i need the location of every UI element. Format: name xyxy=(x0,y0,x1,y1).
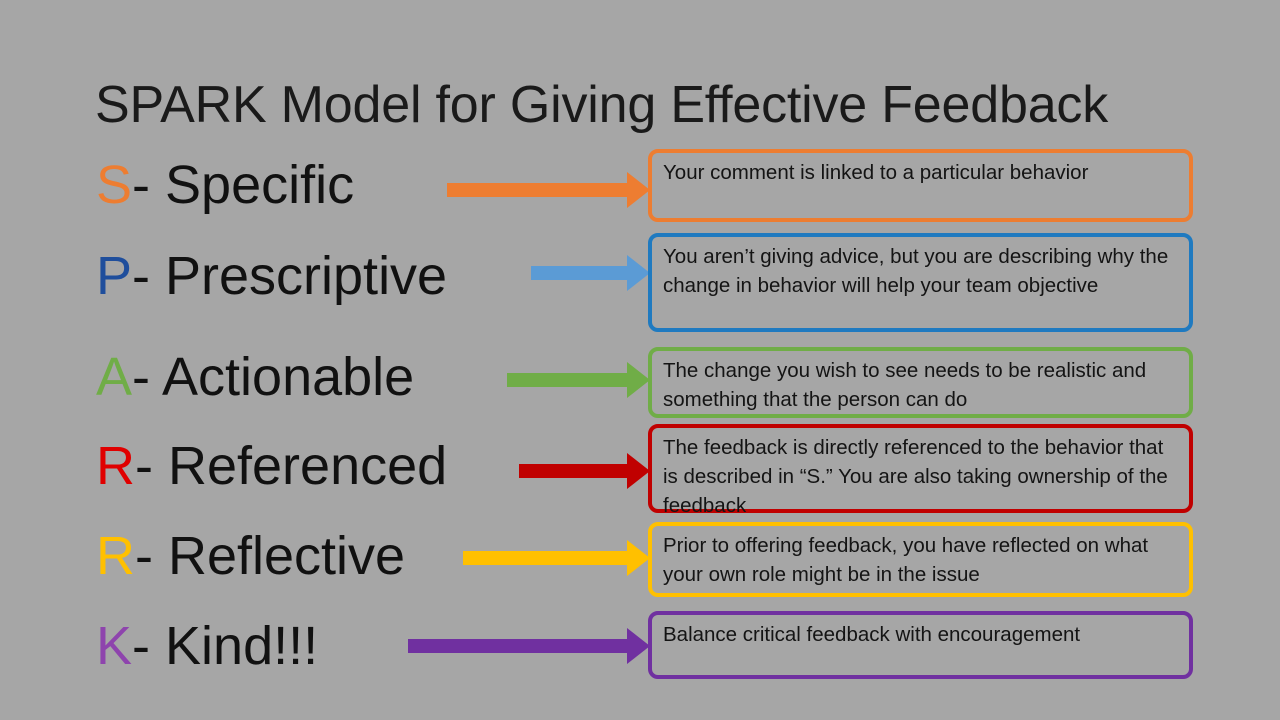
callout-a: The change you wish to see needs to be r… xyxy=(648,347,1193,418)
callout-text-p: You aren’t giving advice, but you are de… xyxy=(663,242,1181,300)
callout-k: Balance critical feedback with encourage… xyxy=(648,611,1193,679)
callout-r-reflective: Prior to offering feedback, you have ref… xyxy=(648,522,1193,597)
term-k: K- Kind!!! xyxy=(96,619,318,673)
term-text-k: - Kind!!! xyxy=(132,616,318,676)
term-letter-r-referenced: R xyxy=(96,436,135,496)
term-text-r-reflective: - Reflective xyxy=(135,526,405,586)
term-s: S- Specific xyxy=(96,158,354,212)
term-letter-p: P xyxy=(96,246,132,306)
term-letter-a: A xyxy=(96,347,132,407)
callout-p: You aren’t giving advice, but you are de… xyxy=(648,233,1193,332)
arrow-head xyxy=(627,362,650,398)
arrow-head xyxy=(627,453,650,489)
term-a: A- Actionable xyxy=(96,350,414,404)
term-text-s: - Specific xyxy=(132,155,354,215)
arrow-head xyxy=(627,540,650,576)
arrow-shaft xyxy=(447,183,628,197)
term-r-reflective: R- Reflective xyxy=(96,529,405,583)
arrow-head xyxy=(627,172,650,208)
arrow-head xyxy=(627,628,650,664)
arrow-shaft xyxy=(463,551,628,565)
term-text-p: - Prescriptive xyxy=(132,246,447,306)
callout-text-r-reflective: Prior to offering feedback, you have ref… xyxy=(663,531,1181,589)
term-letter-s: S xyxy=(96,155,132,215)
term-p: P- Prescriptive xyxy=(96,249,447,303)
page-title: SPARK Model for Giving Effective Feedbac… xyxy=(95,72,1108,138)
callout-text-r-referenced: The feedback is directly referenced to t… xyxy=(663,433,1181,520)
callout-text-s: Your comment is linked to a particular b… xyxy=(663,158,1181,187)
callout-text-a: The change you wish to see needs to be r… xyxy=(663,356,1181,414)
arrow-head xyxy=(627,255,650,291)
arrow-shaft xyxy=(531,266,628,280)
callout-s: Your comment is linked to a particular b… xyxy=(648,149,1193,222)
callout-r-referenced: The feedback is directly referenced to t… xyxy=(648,424,1193,513)
arrow-shaft xyxy=(408,639,628,653)
arrow-shaft xyxy=(519,464,628,478)
term-letter-r-reflective: R xyxy=(96,526,135,586)
arrow-shaft xyxy=(507,373,628,387)
slide-canvas: SPARK Model for Giving Effective Feedbac… xyxy=(0,0,1280,720)
term-text-a: - Actionable xyxy=(132,347,414,407)
term-r-referenced: R- Referenced xyxy=(96,439,447,493)
term-letter-k: K xyxy=(96,616,132,676)
term-text-r-referenced: - Referenced xyxy=(135,436,447,496)
callout-text-k: Balance critical feedback with encourage… xyxy=(663,620,1181,649)
